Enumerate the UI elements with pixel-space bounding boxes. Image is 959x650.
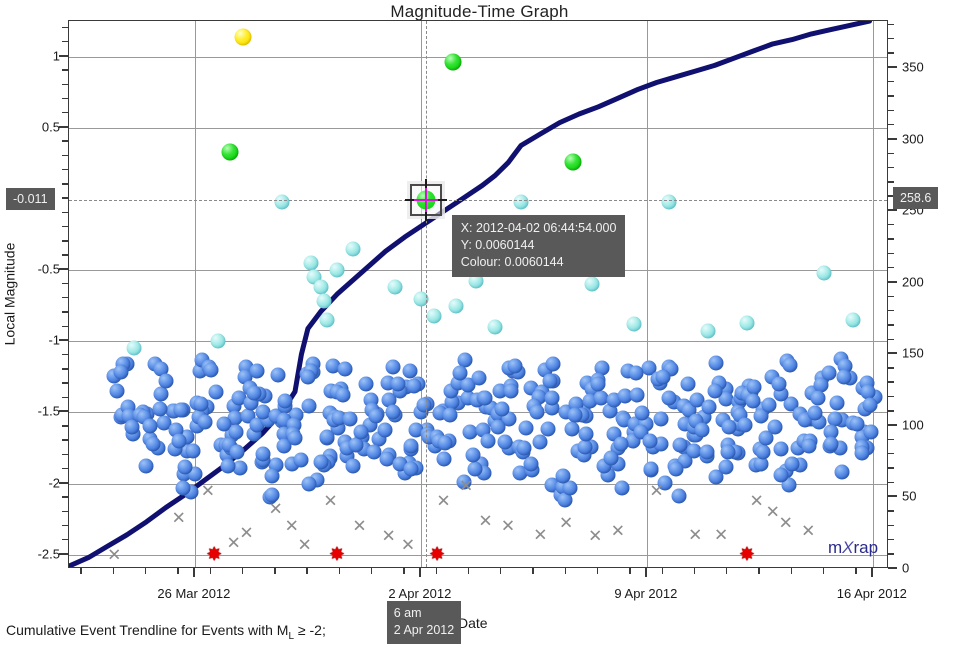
data-point-rejected-cross-icon[interactable]: ✕ [501, 518, 515, 535]
data-point-blue[interactable] [287, 431, 302, 446]
data-point-blue[interactable] [835, 464, 850, 479]
y-axis-minor-tick [62, 425, 68, 426]
data-point-blue[interactable] [438, 435, 453, 450]
x-axis-minor-tick [532, 568, 533, 574]
data-point-rejected-cross-icon[interactable]: ✕ [478, 512, 492, 529]
data-point-cyan[interactable] [210, 334, 225, 349]
data-point-blue[interactable] [517, 441, 532, 456]
x-axis-major-tick [193, 568, 195, 577]
data-point-rejected-cross-icon[interactable]: ✕ [381, 528, 395, 545]
y2-axis-minor-tick [888, 381, 894, 382]
data-point-blue[interactable] [293, 452, 308, 467]
y-axis-minor-tick [62, 468, 68, 469]
data-point-blue[interactable] [656, 369, 671, 384]
y2-axis-minor-tick [888, 453, 894, 454]
y2-axis-tick-label: 200 [902, 274, 924, 289]
data-point-rejected-cross-icon[interactable]: ✕ [298, 536, 312, 553]
data-point-cyan[interactable] [626, 317, 641, 332]
y2-axis-major-tick [888, 424, 897, 426]
y2-axis-minor-tick [888, 339, 894, 340]
data-point-blue[interactable] [810, 391, 825, 406]
y2-axis-minor-tick [888, 324, 894, 325]
data-point-blue[interactable] [746, 379, 761, 394]
tooltip-x: X: 2012-04-02 06:44:54.000 [461, 220, 617, 237]
data-point-blue[interactable] [468, 461, 483, 476]
x-axis-minor-tick [823, 568, 824, 574]
x-axis-minor-tick [468, 568, 469, 574]
data-point-blast-star-icon[interactable]: ✸ [429, 545, 445, 564]
x-axis-minor-tick [210, 568, 211, 574]
y2-axis-tick-label: 150 [902, 346, 924, 361]
data-point-blue[interactable] [700, 445, 715, 460]
y-axis-tick-label: -1.5 [16, 404, 60, 419]
data-point-blue[interactable] [497, 435, 512, 450]
data-point-blue[interactable] [694, 422, 709, 437]
y2-axis-minor-tick [888, 396, 894, 397]
data-point-blue[interactable] [544, 391, 559, 406]
data-point-blue[interactable] [436, 452, 451, 467]
data-point-blue[interactable] [378, 422, 393, 437]
x-axis-minor-tick [758, 568, 759, 574]
data-point-cyan[interactable] [126, 341, 141, 356]
data-point-blue[interactable] [591, 376, 606, 391]
data-point-blue[interactable] [508, 358, 523, 373]
data-point-blue[interactable] [615, 480, 630, 495]
data-point-rejected-cross-icon[interactable]: ✕ [352, 518, 366, 535]
y-axis-cursor-label: -0.011 [6, 188, 55, 210]
data-point-blue[interactable] [577, 440, 592, 455]
x-axis-major-tick [645, 568, 647, 577]
data-point-blue[interactable] [255, 447, 270, 462]
x-axis-minor-tick [274, 568, 275, 574]
data-point-cyan[interactable] [320, 312, 335, 327]
data-point-blue[interactable] [110, 384, 125, 399]
data-point-blast-star-icon[interactable]: ✸ [329, 545, 345, 564]
data-point-cyan[interactable] [701, 324, 716, 339]
y-axis-minor-tick [62, 326, 68, 327]
y-axis-tick-label: -1 [16, 333, 60, 348]
y-axis-major-tick [59, 553, 68, 555]
data-point-blue[interactable] [772, 376, 787, 391]
x-axis-minor-tick [597, 568, 598, 574]
data-point-blue[interactable] [578, 426, 593, 441]
x-axis-cursor-label: 6 am 2 Apr 2012 [387, 601, 461, 644]
y2-axis-major-tick [888, 138, 897, 140]
y-axis-minor-tick [62, 112, 68, 113]
data-point-rejected-cross-icon[interactable]: ✕ [323, 492, 337, 509]
data-point-blue[interactable] [722, 419, 737, 434]
y2-axis-minor-tick [888, 124, 894, 125]
data-point-rejected-cross-icon[interactable]: ✕ [107, 546, 121, 563]
data-point-rejected-cross-icon[interactable]: ✕ [172, 509, 186, 526]
data-point-blue[interactable] [829, 395, 844, 410]
data-point-blue[interactable] [709, 356, 724, 371]
data-point-blue[interactable] [301, 398, 316, 413]
data-point-blue[interactable] [855, 445, 870, 460]
data-point-rejected-cross-icon[interactable]: ✕ [268, 501, 282, 518]
data-point-blast-star-icon[interactable]: ✸ [739, 545, 755, 564]
data-point-blue[interactable] [229, 445, 244, 460]
y-axis-major-tick [59, 55, 68, 57]
data-point-blue[interactable] [635, 406, 650, 421]
data-point-cyan[interactable] [275, 194, 290, 209]
y-axis-minor-tick [62, 212, 68, 213]
x-axis-title: Date [458, 615, 488, 631]
y-axis-minor-tick [62, 140, 68, 141]
data-point-blue[interactable] [145, 436, 160, 451]
y2-axis-minor-tick [888, 310, 894, 311]
x-cursor-time: 6 am [394, 605, 454, 622]
y2-axis-minor-tick [888, 539, 894, 540]
data-point-cyan[interactable] [846, 312, 861, 327]
data-point-blue[interactable] [442, 408, 457, 423]
data-point-blue[interactable] [755, 445, 770, 460]
data-point-blue[interactable] [337, 362, 352, 377]
x-axis-major-tick [419, 568, 421, 577]
data-point-blue[interactable] [300, 369, 315, 384]
data-point-cyan[interactable] [739, 315, 754, 330]
data-point-blue[interactable] [668, 462, 683, 477]
data-point-green[interactable] [445, 54, 462, 71]
crosshair-tick-top [425, 179, 427, 188]
y2-axis-major-tick [888, 567, 897, 569]
data-point-blue[interactable] [783, 357, 798, 372]
data-point-blue[interactable] [246, 386, 261, 401]
y2-axis-major-tick [888, 495, 897, 497]
data-point-blue[interactable] [472, 371, 487, 386]
y2-axis-minor-tick [888, 296, 894, 297]
data-point-blue[interactable] [628, 365, 643, 380]
data-point-rejected-cross-icon[interactable]: ✕ [588, 528, 602, 545]
y-axis-title: Local Magnitude [1, 243, 17, 346]
selected-point-box[interactable] [410, 184, 442, 216]
data-point-blue[interactable] [738, 418, 753, 433]
data-point-blue[interactable] [185, 443, 200, 458]
data-point-blue[interactable] [302, 477, 317, 492]
data-point-rejected-cross-icon[interactable]: ✕ [436, 492, 450, 509]
y-axis-minor-tick [62, 511, 68, 512]
data-point-blue[interactable] [773, 467, 788, 482]
data-point-blue[interactable] [176, 480, 191, 495]
y2-axis-tick-label: 300 [902, 131, 924, 146]
data-point-blue[interactable] [532, 435, 547, 450]
x-axis-minor-tick [80, 568, 81, 574]
y-axis-minor-tick [62, 525, 68, 526]
data-point-blue[interactable] [613, 437, 628, 452]
y2-axis-minor-tick [888, 167, 894, 168]
watermark-prefix: m [828, 538, 842, 557]
x-axis-minor-tick [145, 568, 146, 574]
data-point-rejected-cross-icon[interactable]: ✕ [285, 518, 299, 535]
data-point-blast-star-icon[interactable]: ✸ [206, 545, 222, 564]
data-point-blue[interactable] [173, 402, 188, 417]
y2-axis-minor-tick [888, 525, 894, 526]
y-axis-minor-tick [62, 98, 68, 99]
data-point-blue[interactable] [178, 459, 193, 474]
data-point-rejected-cross-icon[interactable]: ✕ [714, 526, 728, 543]
data-point-blue[interactable] [762, 398, 777, 413]
data-point-blue[interactable] [158, 374, 173, 389]
data-point-green[interactable] [564, 153, 581, 170]
y-axis-tick-label: -2 [16, 475, 60, 490]
y-axis-minor-tick [62, 382, 68, 383]
y-axis-minor-tick [62, 69, 68, 70]
data-point-rejected-cross-icon[interactable]: ✕ [459, 478, 473, 495]
data-point-rejected-cross-icon[interactable]: ✕ [559, 515, 573, 532]
data-point-blue[interactable] [494, 401, 509, 416]
x-axis-minor-tick [565, 568, 566, 574]
data-point-blue[interactable] [313, 455, 328, 470]
data-point-blue[interactable] [630, 388, 645, 403]
x-axis-major-tick [871, 568, 873, 577]
y2-axis-tick-label: 50 [902, 489, 916, 504]
data-point-blue[interactable] [404, 462, 419, 477]
data-point-blue[interactable] [785, 456, 800, 471]
data-point-blue[interactable] [270, 367, 285, 382]
data-point-blue[interactable] [541, 421, 556, 436]
mxrap-watermark: mXrap [828, 538, 878, 558]
data-point-cyan[interactable] [304, 255, 319, 270]
y-axis-minor-tick [62, 454, 68, 455]
data-point-blue[interactable] [407, 378, 422, 393]
data-point-cyan[interactable] [346, 241, 361, 256]
y-axis-minor-tick [62, 84, 68, 85]
data-point-rejected-cross-icon[interactable]: ✕ [649, 482, 663, 499]
y-axis-tick-label: 1 [16, 48, 60, 63]
data-point-rejected-cross-icon[interactable]: ✕ [801, 522, 815, 539]
data-point-blue[interactable] [369, 409, 384, 424]
x-axis-tick-label: 9 Apr 2012 [614, 586, 677, 601]
y2-axis-minor-tick [888, 95, 894, 96]
data-point-blue[interactable] [807, 405, 822, 420]
y2-axis-tick-label: 0 [902, 561, 909, 576]
data-point-blue[interactable] [673, 437, 688, 452]
data-point-blue[interactable] [672, 489, 687, 504]
data-point-blue[interactable] [707, 384, 722, 399]
x-axis-minor-tick [694, 568, 695, 574]
data-point-blue[interactable] [197, 414, 212, 429]
data-point-cyan[interactable] [513, 194, 528, 209]
y2-axis-tick-label: 350 [902, 60, 924, 75]
y-axis-minor-tick [62, 183, 68, 184]
y-axis-minor-tick [62, 27, 68, 28]
data-point-yellow[interactable] [235, 28, 252, 45]
x-axis-tick-label: 2 Apr 2012 [388, 586, 451, 601]
y-axis-tick-label: -2.5 [16, 546, 60, 561]
chart-caption: Cumulative Event Trendline for Events wi… [6, 622, 326, 642]
y2-axis-cursor-label: 258.6 [893, 187, 938, 209]
y2-axis-tick-label: 100 [902, 417, 924, 432]
data-point-blue[interactable] [478, 391, 493, 406]
data-point-blue[interactable] [849, 416, 864, 431]
data-point-rejected-cross-icon[interactable]: ✕ [688, 526, 702, 543]
x-axis-minor-tick [726, 568, 727, 574]
y2-axis-major-tick [888, 209, 897, 211]
data-point-blue[interactable] [113, 365, 128, 380]
y2-axis-minor-tick [888, 81, 894, 82]
watermark-suffix: rap [854, 538, 879, 557]
data-point-blue[interactable] [759, 431, 774, 446]
data-point-blue[interactable] [278, 394, 293, 409]
data-point-blue[interactable] [823, 436, 838, 451]
tooltip-colour: Colour: 0.0060144 [461, 254, 617, 271]
data-point-blue[interactable] [504, 384, 519, 399]
y-axis-minor-tick [62, 197, 68, 198]
y-axis-minor-tick [62, 226, 68, 227]
y-axis-minor-tick [62, 397, 68, 398]
tooltip-y: Y: 0.0060144 [461, 237, 617, 254]
y2-axis-minor-tick [888, 510, 894, 511]
data-point-blue[interactable] [546, 356, 561, 371]
data-point-blue[interactable] [194, 396, 209, 411]
data-point-blue[interactable] [349, 438, 364, 453]
data-point-blue[interactable] [154, 387, 169, 402]
data-point-blue[interactable] [862, 398, 877, 413]
data-point-blue[interactable] [523, 457, 538, 472]
data-point-blue[interactable] [336, 388, 351, 403]
data-point-blue[interactable] [801, 438, 816, 453]
y-axis-minor-tick [62, 297, 68, 298]
data-point-blue[interactable] [555, 469, 570, 484]
data-point-blue[interactable] [249, 364, 264, 379]
x-axis-minor-tick [629, 568, 630, 574]
data-point-blue[interactable] [643, 433, 658, 448]
data-point-blue[interactable] [863, 425, 878, 440]
y-axis-major-tick [59, 126, 68, 128]
y-axis-minor-tick [62, 496, 68, 497]
data-point-blue[interactable] [530, 405, 545, 420]
data-point-blue[interactable] [343, 411, 358, 426]
data-point-cyan[interactable] [313, 280, 328, 295]
data-point-rejected-cross-icon[interactable]: ✕ [779, 515, 793, 532]
data-point-blue[interactable] [345, 458, 360, 473]
data-point-blue[interactable] [681, 377, 696, 392]
data-point-blue[interactable] [654, 412, 669, 427]
y2-axis-major-tick [888, 352, 897, 354]
data-point-cyan[interactable] [317, 294, 332, 309]
data-point-blue[interactable] [773, 441, 788, 456]
data-point-blue[interactable] [604, 450, 619, 465]
data-point-cyan[interactable] [329, 263, 344, 278]
data-point-blue[interactable] [822, 365, 837, 380]
data-point-blue[interactable] [836, 369, 851, 384]
y-axis-tick-label: 0.5 [16, 119, 60, 134]
data-point-blue[interactable] [491, 419, 506, 434]
x-cursor-date: 2 Apr 2012 [394, 622, 454, 639]
data-point-rejected-cross-icon[interactable]: ✕ [239, 525, 253, 542]
y-axis-minor-tick [62, 368, 68, 369]
data-point-blue[interactable] [644, 461, 659, 476]
y-axis-minor-tick [62, 254, 68, 255]
data-point-blue[interactable] [358, 376, 373, 391]
caption-text-after: ≥ -2; [294, 622, 326, 638]
data-point-blue[interactable] [568, 408, 583, 423]
plot-area[interactable]: ✕✕✕✕✕✕✕✕✕✕✕✕✕✕✕✕✕✕✕✕✕✕✕✕✕✕✕✸✸✸✸ [68, 20, 888, 568]
x-axis-minor-tick [855, 568, 856, 574]
data-point-blue[interactable] [221, 459, 236, 474]
x-axis-minor-tick [242, 568, 243, 574]
data-point-blue[interactable] [353, 425, 368, 440]
data-point-cyan[interactable] [817, 265, 832, 280]
data-point-rejected-cross-icon[interactable]: ✕ [533, 526, 547, 543]
data-point-rejected-cross-icon[interactable]: ✕ [611, 522, 625, 539]
x-axis-tick-label: 16 Apr 2012 [837, 586, 907, 601]
y2-axis-minor-tick [888, 267, 894, 268]
y-axis-minor-tick [62, 354, 68, 355]
x-axis-minor-tick [791, 568, 792, 574]
crosshair-tick-left [405, 199, 414, 201]
data-point-cyan[interactable] [584, 277, 599, 292]
y2-axis-minor-tick [888, 110, 894, 111]
data-point-blue[interactable] [152, 402, 167, 417]
data-point-blue[interactable] [265, 469, 280, 484]
page-title: Magnitude-Time Graph [0, 2, 959, 22]
y2-axis-minor-tick [888, 553, 894, 554]
data-point-blue[interactable] [417, 398, 432, 413]
data-point-blue[interactable] [746, 394, 761, 409]
data-point-cyan[interactable] [488, 320, 503, 335]
data-point-blue[interactable] [172, 434, 187, 449]
x-axis-minor-tick [177, 568, 178, 574]
data-point-green[interactable] [222, 143, 239, 160]
data-point-blue[interactable] [661, 391, 676, 406]
data-point-blue[interactable] [719, 460, 734, 475]
x-axis-minor-tick [500, 568, 501, 574]
y-axis-major-tick [59, 268, 68, 270]
data-point-blue[interactable] [701, 399, 716, 414]
y-axis-major-tick [59, 339, 68, 341]
data-point-rejected-cross-icon[interactable]: ✕ [750, 492, 764, 509]
data-point-cyan[interactable] [449, 298, 464, 313]
watermark-x-glyph: X [842, 538, 853, 557]
data-point-cyan[interactable] [662, 194, 677, 209]
data-point-rejected-cross-icon[interactable]: ✕ [401, 536, 415, 553]
data-point-blue[interactable] [204, 362, 219, 377]
data-point-blue[interactable] [385, 360, 400, 375]
x-axis-minor-tick [339, 568, 340, 574]
data-point-cyan[interactable] [388, 280, 403, 295]
x-axis-minor-tick [113, 568, 114, 574]
y2-axis-minor-tick [888, 24, 894, 25]
y-axis-minor-tick [62, 311, 68, 312]
data-point-blue[interactable] [543, 374, 558, 389]
y-axis-tick-label: -0.5 [16, 262, 60, 277]
y2-axis-minor-tick [888, 467, 894, 468]
y2-axis-minor-tick [888, 439, 894, 440]
data-point-blue[interactable] [385, 404, 400, 419]
data-point-cyan[interactable] [426, 308, 441, 323]
x-axis-minor-tick [403, 568, 404, 574]
data-point-blue[interactable] [519, 420, 534, 435]
y2-axis-minor-tick [888, 224, 894, 225]
y-axis-minor-tick [62, 155, 68, 156]
data-point-blue[interactable] [404, 439, 419, 454]
data-point-blue[interactable] [465, 448, 480, 463]
data-point-blue[interactable] [480, 433, 495, 448]
data-point-blue[interactable] [143, 419, 158, 434]
data-point-blue[interactable] [391, 376, 406, 391]
data-point-blue[interactable] [452, 365, 467, 380]
y-axis-minor-tick [62, 539, 68, 540]
data-point-blue[interactable] [139, 458, 154, 473]
crosshair-tick-bottom [425, 212, 427, 221]
y2-axis-minor-tick [888, 238, 894, 239]
caption-text-before: Cumulative Event Trendline for Events wi… [6, 622, 288, 638]
data-point-rejected-cross-icon[interactable]: ✕ [201, 482, 215, 499]
data-point-blue[interactable] [208, 385, 223, 400]
y-axis-minor-tick [62, 240, 68, 241]
data-point-blue[interactable] [720, 445, 735, 460]
